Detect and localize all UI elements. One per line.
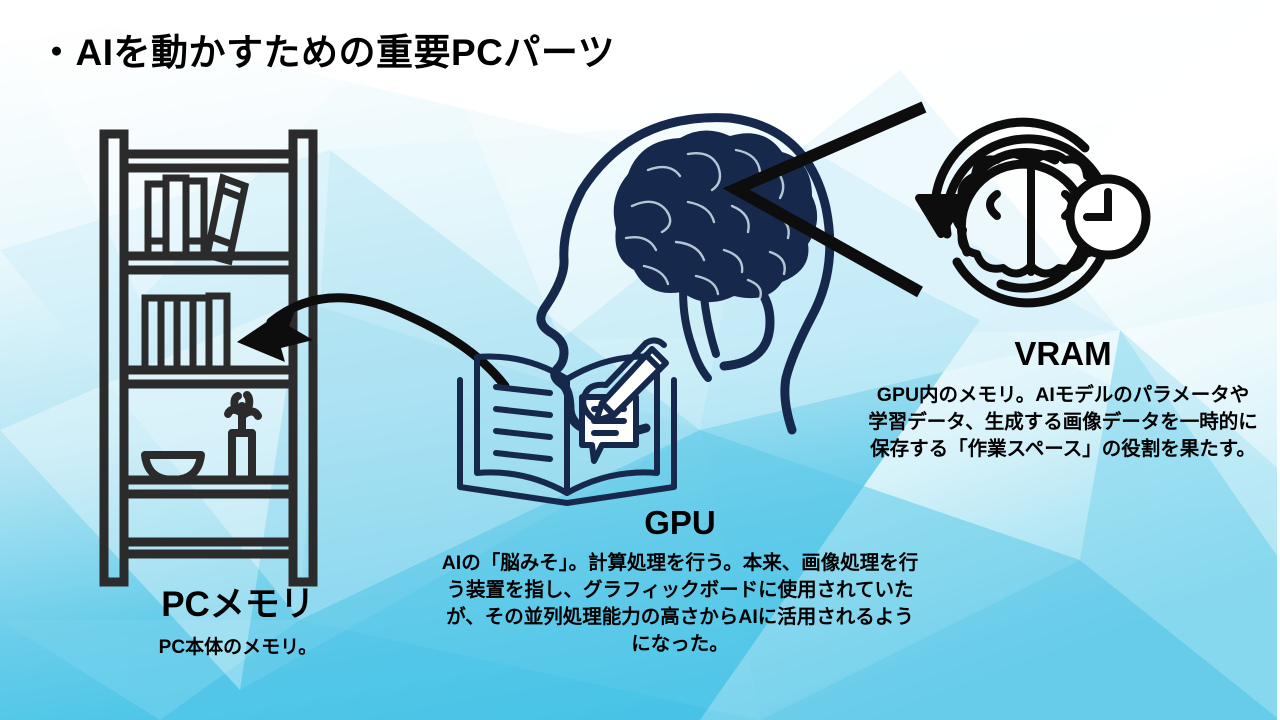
open-book-pencil-icon (450, 335, 685, 520)
pcmemory-body: PC本体のメモリ。 (58, 635, 418, 661)
pcmemory-title: PCメモリ (58, 586, 418, 625)
section-vram: VRAM GPU内のメモリ。AIモデルのパラメータや学習データ、生成する画像デー… (868, 336, 1258, 463)
chevron-pointer-icon (720, 85, 935, 310)
brain-clock-refresh-icon (905, 112, 1165, 322)
gpu-title: GPU (440, 505, 920, 541)
slide-canvas: ・AIを動かすための重要PCパーツ (0, 0, 1280, 720)
section-pcmemory: PCメモリ PC本体のメモリ。 (58, 586, 418, 661)
slide-title: ・AIを動かすための重要PCパーツ (38, 30, 615, 76)
vram-body: GPU内のメモリ。AIモデルのパラメータや学習データ、生成する画像データを一時的… (868, 382, 1258, 463)
gpu-body: AIの「脳みそ」。計算処理を行う。本来、画像処理を行う装置を指し、グラフィックボ… (440, 550, 920, 658)
vram-title: VRAM (868, 336, 1258, 372)
section-gpu: GPU AIの「脳みそ」。計算処理を行う。本来、画像処理を行う装置を指し、グラフ… (440, 505, 920, 658)
